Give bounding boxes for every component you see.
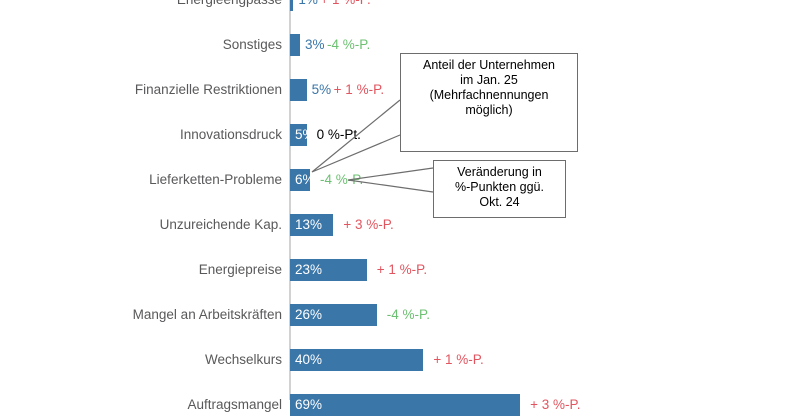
bar-value-label: 1% xyxy=(298,0,318,11)
category-label: Energiepreise xyxy=(199,259,282,281)
table-row: Energieengpässe1%+ 1 %-P. xyxy=(0,0,800,11)
bar-value-label: 23% xyxy=(295,259,322,281)
callout-change-line-2: %-Punkten ggü. xyxy=(434,180,565,195)
bar-value-label: 40% xyxy=(295,349,322,371)
table-row: Unzureichende Kap.13%+ 3 %-P. xyxy=(0,214,800,236)
value-bar[interactable]: 40% xyxy=(290,349,423,371)
value-bar[interactable]: 26% xyxy=(290,304,377,326)
delta-label: 0 %-Pt. xyxy=(317,124,361,146)
bar-value-label: 13% xyxy=(295,214,322,236)
bar-value-label: 3% xyxy=(305,34,325,56)
delta-label: -4 %-P. xyxy=(387,304,430,326)
value-bar[interactable] xyxy=(290,0,293,11)
bar-value-label: 26% xyxy=(295,304,322,326)
table-row: Lieferketten-Probleme6%-4 %-P. xyxy=(0,169,800,191)
delta-label: + 3 %-P. xyxy=(343,214,393,236)
category-label: Energieengpässe xyxy=(177,0,282,11)
table-row: Auftragsmangel69%+ 3 %-P. xyxy=(0,394,800,416)
value-bar[interactable] xyxy=(290,79,307,101)
category-label: Auftragsmangel xyxy=(187,394,282,416)
callout-change-in-points: Veränderung in %-Punkten ggü. Okt. 24 xyxy=(433,160,566,218)
value-bar[interactable] xyxy=(290,34,300,56)
delta-label: -4 %-P. xyxy=(327,34,370,56)
bar-value-label: 5% xyxy=(312,79,332,101)
value-bar[interactable]: 13% xyxy=(290,214,333,236)
callout-change-line-1: Veränderung in xyxy=(434,165,565,180)
callout-share-line-3: (Mehrfachnennungen xyxy=(401,88,577,103)
category-label: Sonstiges xyxy=(223,34,282,56)
callout-share-of-companies: Anteil der Unternehmen im Jan. 25 (Mehrf… xyxy=(400,53,578,152)
bar-value-label: 69% xyxy=(295,394,322,416)
callout-share-line-1: Anteil der Unternehmen xyxy=(401,58,577,73)
callout-change-line-3: Okt. 24 xyxy=(434,195,565,210)
callout-share-line-2: im Jan. 25 xyxy=(401,73,577,88)
delta-label: + 3 %-P. xyxy=(530,394,580,416)
category-label: Lieferketten-Probleme xyxy=(149,169,282,191)
delta-label: + 1 %-P. xyxy=(433,349,483,371)
value-bar[interactable]: 5% xyxy=(290,124,307,146)
value-axis-line xyxy=(289,0,291,400)
value-bar[interactable]: 69% xyxy=(290,394,520,416)
delta-label: + 1 %-P. xyxy=(377,259,427,281)
bar-chart: Energieengpässe1%+ 1 %-P.Sonstiges3%-4 %… xyxy=(0,0,800,400)
bar-value-label: 6% xyxy=(295,169,310,191)
category-label: Unzureichende Kap. xyxy=(160,214,282,236)
delta-label: + 1 %-P. xyxy=(320,0,370,11)
category-label: Wechselkurs xyxy=(205,349,282,371)
category-label: Innovationsdruck xyxy=(180,124,282,146)
value-bar[interactable]: 23% xyxy=(290,259,367,281)
delta-label: -4 %-P. xyxy=(320,169,363,191)
category-label: Mangel an Arbeitskräften xyxy=(133,304,282,326)
table-row: Wechselkurs40%+ 1 %-P. xyxy=(0,349,800,371)
delta-label: + 1 %-P. xyxy=(334,79,384,101)
callout-share-line-4: möglich) xyxy=(401,103,577,118)
table-row: Energiepreise23%+ 1 %-P. xyxy=(0,259,800,281)
bar-value-label: 5% xyxy=(295,124,307,146)
category-label: Finanzielle Restriktionen xyxy=(135,79,282,101)
table-row: Mangel an Arbeitskräften26%-4 %-P. xyxy=(0,304,800,326)
value-bar[interactable]: 6% xyxy=(290,169,310,191)
